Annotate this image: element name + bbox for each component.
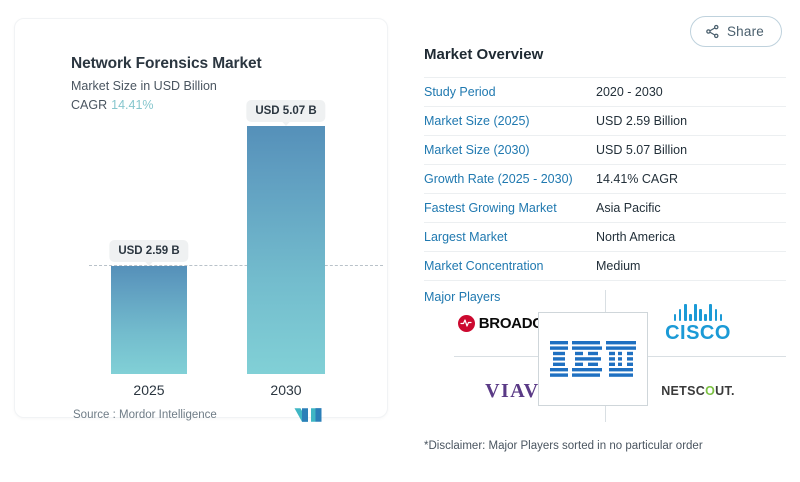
netscout-wordmark-b: UT. (715, 384, 735, 398)
x-axis-label-2030: 2030 (270, 382, 301, 398)
table-row: Study Period 2020 - 2030 (424, 77, 786, 106)
netscout-logo: NETSCOUT. (661, 384, 735, 398)
pulse-icon (460, 317, 472, 329)
row-label-fastest-growing-market: Fastest Growing Market (424, 201, 596, 215)
market-overview-panel: Market Overview Study Period 2020 - 2030… (424, 46, 786, 310)
ibm-logo (550, 341, 636, 377)
table-row: Fastest Growing Market Asia Pacific (424, 193, 786, 222)
overview-title: Market Overview (424, 46, 786, 77)
bar-label-2030: USD 5.07 B (246, 100, 325, 122)
row-value-market-concentration: Medium (596, 259, 640, 273)
chart-cagr-label: CAGR (71, 98, 107, 112)
row-value-market-size-2025: USD 2.59 Billion (596, 114, 687, 128)
table-row: Market Size (2025) USD 2.59 Billion (424, 106, 786, 135)
chart-title: Network Forensics Market (71, 55, 262, 73)
share-button-label: Share (727, 24, 764, 39)
cisco-logo: CISCO (665, 304, 731, 343)
chart-cagr: CAGR14.41% (71, 98, 154, 112)
row-value-study-period: 2020 - 2030 (596, 85, 663, 99)
table-row: Largest Market North America (424, 222, 786, 251)
chart-subtitle: Market Size in USD Billion (71, 79, 217, 93)
major-players-grid: BROADCOM ® CISCO VIAVI NETSCOUT. (424, 290, 786, 422)
player-cell-ibm (538, 312, 648, 406)
bar-2025[interactable] (111, 266, 187, 374)
screenshot-root: Share Network Forensics Market Market Si… (0, 0, 800, 482)
cisco-bars-icon (674, 304, 722, 321)
chart-card: Network Forensics Market Market Size in … (14, 18, 388, 418)
bar-2030[interactable] (247, 126, 325, 374)
row-value-growth-rate: 14.41% CAGR (596, 172, 678, 186)
bar-chart-plot: USD 2.59 B USD 5.07 B 2025 2030 (71, 124, 371, 374)
row-label-market-size-2025: Market Size (2025) (424, 114, 596, 128)
share-icon (705, 24, 720, 39)
row-value-fastest-growing-market: Asia Pacific (596, 201, 661, 215)
netscout-wordmark-a: NETSC (661, 384, 705, 398)
row-value-market-size-2030: USD 5.07 Billion (596, 143, 687, 157)
table-row: Growth Rate (2025 - 2030) 14.41% CAGR (424, 164, 786, 193)
netscout-wordmark-o: O (705, 384, 715, 398)
table-row: Market Concentration Medium (424, 251, 786, 280)
row-label-market-size-2030: Market Size (2030) (424, 143, 596, 157)
row-label-largest-market: Largest Market (424, 230, 596, 244)
cisco-wordmark: CISCO (665, 323, 731, 343)
row-value-largest-market: North America (596, 230, 675, 244)
disclaimer-text: *Disclaimer: Major Players sorted in no … (424, 440, 703, 452)
broadcom-mark-icon (458, 315, 475, 332)
row-label-study-period: Study Period (424, 85, 596, 99)
share-button[interactable]: Share (690, 16, 782, 47)
x-axis-label-2025: 2025 (133, 382, 164, 398)
row-label-growth-rate: Growth Rate (2025 - 2030) (424, 172, 596, 186)
chart-cagr-value: 14.41% (111, 98, 153, 112)
chart-source: Source : Mordor Intelligence (73, 409, 217, 421)
row-label-market-concentration: Market Concentration (424, 259, 596, 273)
mordor-intelligence-logo (293, 405, 329, 425)
bar-label-2025: USD 2.59 B (109, 240, 188, 262)
table-row: Market Size (2030) USD 5.07 Billion (424, 135, 786, 164)
